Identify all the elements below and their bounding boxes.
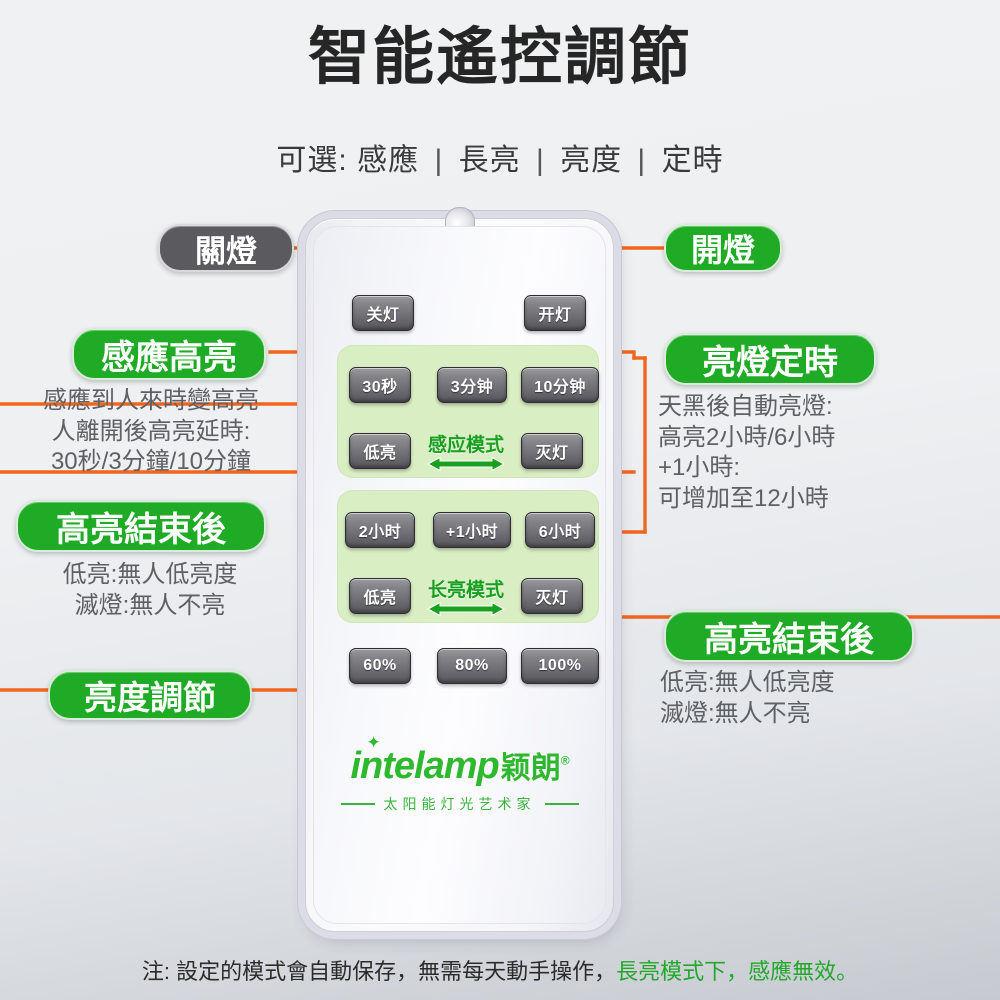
button-plus1h[interactable]: +1小时: [433, 512, 511, 548]
remote-control: 关灯 开灯 30秒 3分钟 10分钟 低亮 感应模式 灭灯 2小时 +1小时 6…: [305, 218, 614, 932]
button-30s[interactable]: 30秒: [349, 367, 411, 403]
subtitle-separator-1: |: [428, 144, 449, 177]
page-subtitle: 可選: 感應 | 長亮 | 亮度 | 定時: [0, 135, 1000, 179]
registered-mark: ®: [561, 753, 569, 767]
subtitle-option-sensor: 感應: [357, 144, 419, 177]
subtitle-separator-3: |: [631, 144, 652, 177]
after-bright-right-line-2: 滅燈:無人不亮: [660, 699, 835, 730]
sensor-bright-line-1: 感應到人來時變高亮: [0, 386, 302, 417]
button-10min[interactable]: 10分钟: [521, 367, 599, 403]
callout-light-timer[interactable]: 亮燈定時: [664, 333, 876, 385]
button-sensor-off[interactable]: 灭灯: [521, 433, 583, 469]
light-timer-line-2: 高亮2小時/6小時: [658, 423, 835, 454]
light-timer-line-4: 可增加至12小時: [658, 484, 835, 515]
remote-faceplate: 关灯 开灯 30秒 3分钟 10分钟 低亮 感应模式 灭灯 2小时 +1小时 6…: [313, 226, 606, 924]
footer-note-prefix: 注: 設定的模式會自動保存，無需每天動手操作，: [142, 959, 616, 984]
button-6h[interactable]: 6小时: [525, 512, 595, 548]
tagline-rule-right: [545, 803, 579, 805]
always-mode-title: 长亮模式: [418, 575, 514, 602]
button-off[interactable]: 关灯: [352, 295, 414, 331]
subtitle-prefix: 可選:: [276, 144, 347, 177]
sensor-mode-title: 感应模式: [418, 430, 514, 457]
subtitle-option-brightness: 亮度: [560, 144, 622, 177]
callout-on-light[interactable]: 開燈: [664, 224, 782, 272]
sensor-bright-description: 感應到人來時變高亮 人離開後高亮延時: 30秒/3分鐘/10分鐘: [0, 386, 302, 478]
brand-logo: ✦ intelamp颖朗® 太阳能灯光艺术家: [314, 747, 605, 814]
button-sensor-low[interactable]: 低亮: [349, 433, 411, 469]
page-title: 智能遙控調節: [0, 22, 1000, 93]
after-bright-left-line-1: 低亮:無人低亮度: [0, 560, 300, 591]
after-bright-left-description: 低亮:無人低亮度 滅燈:無人不亮: [0, 560, 300, 621]
callout-sensor-bright[interactable]: 感應高亮: [72, 328, 266, 380]
button-always-off[interactable]: 灭灯: [521, 578, 583, 614]
callout-brightness-adjust[interactable]: 亮度調節: [48, 670, 252, 720]
brand-name-cn: 颖朗: [501, 752, 561, 785]
light-timer-line-3: +1小時:: [658, 453, 835, 484]
subtitle-option-timer: 定時: [662, 144, 724, 177]
always-mode-double-arrow-icon: [426, 601, 506, 617]
button-80[interactable]: 80%: [437, 648, 507, 684]
diagram-canvas: 智能遙控調節 可選: 感應 | 長亮 | 亮度 | 定時: [0, 0, 1000, 1000]
after-bright-right-description: 低亮:無人低亮度 滅燈:無人不亮: [660, 668, 835, 729]
button-3min[interactable]: 3分钟: [437, 367, 507, 403]
button-100[interactable]: 100%: [521, 648, 599, 684]
after-bright-left-line-2: 滅燈:無人不亮: [0, 591, 300, 622]
button-2h[interactable]: 2小时: [345, 512, 415, 548]
subtitle-option-always: 長亮: [459, 144, 521, 177]
sparkle-icon: ✦: [366, 734, 379, 751]
tagline-text: 太阳能灯光艺术家: [384, 794, 536, 814]
brand-name: ✦ intelamp颖朗®: [350, 747, 568, 785]
tagline-rule-left: [341, 803, 375, 805]
callout-after-bright-left[interactable]: 高亮結束後: [16, 500, 266, 552]
light-timer-line-1: 天黑後自動亮燈:: [658, 392, 835, 423]
subtitle-separator-2: |: [530, 144, 551, 177]
button-always-low[interactable]: 低亮: [349, 578, 411, 614]
sensor-bright-line-3: 30秒/3分鐘/10分鐘: [0, 447, 302, 478]
callout-off-light[interactable]: 關燈: [158, 224, 294, 272]
footer-note-highlight: 長亮模式下，感應無效。: [616, 959, 858, 984]
light-timer-description: 天黑後自動亮燈: 高亮2小時/6小時 +1小時: 可增加至12小時: [658, 392, 835, 515]
after-bright-right-line-1: 低亮:無人低亮度: [660, 668, 835, 699]
button-60[interactable]: 60%: [349, 648, 411, 684]
brand-tagline: 太阳能灯光艺术家: [314, 794, 605, 814]
sensor-bright-line-2: 人離開後高亮延時:: [0, 417, 302, 448]
footer-note: 注: 設定的模式會自動保存，無需每天動手操作，長亮模式下，感應無效。: [0, 954, 1000, 986]
callout-after-bright-right[interactable]: 高亮結束後: [664, 610, 914, 662]
button-on[interactable]: 开灯: [524, 295, 586, 331]
sensor-mode-double-arrow-icon: [426, 456, 506, 472]
